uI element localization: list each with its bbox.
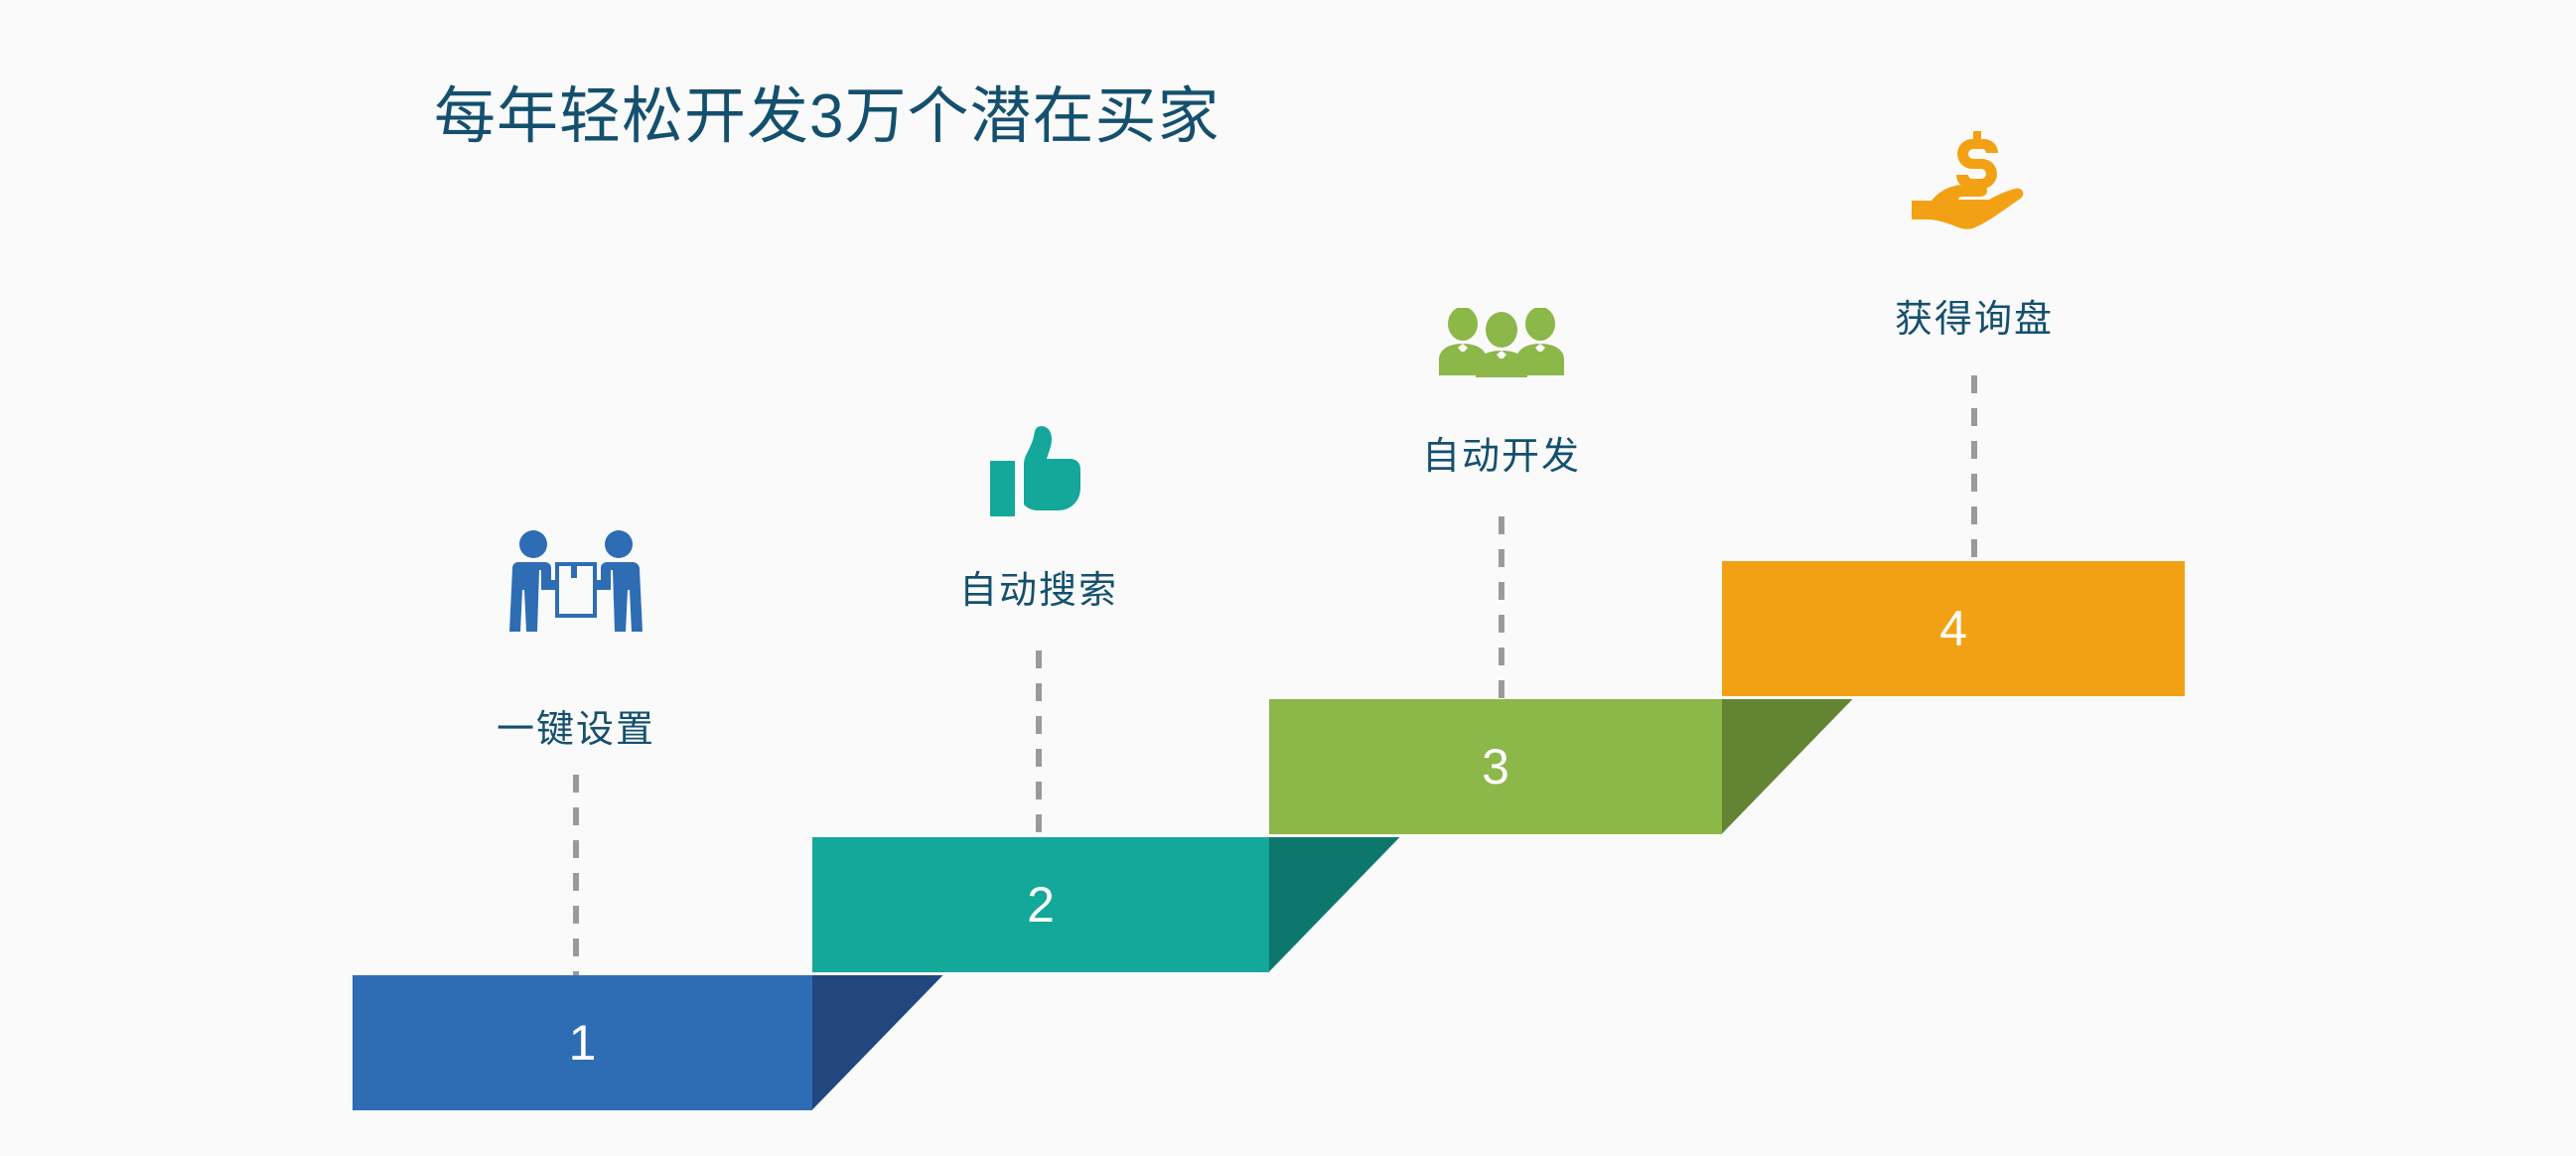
two-people-carrying-box-icon	[501, 528, 650, 638]
step-2-riser	[1269, 837, 1400, 972]
step-3-tread	[1269, 699, 1722, 834]
step-3-label: 自动开发	[1422, 425, 1581, 480]
step-4-icon-wrap	[1910, 129, 2039, 233]
step-2-block[interactable]: 2	[812, 837, 1269, 972]
step-2-connector	[1036, 650, 1042, 837]
step-4-tread	[1722, 561, 2185, 696]
step-1-label: 一键设置	[497, 698, 655, 753]
step-2-label: 自动搜索	[959, 559, 1118, 614]
step-3-riser	[1722, 699, 1853, 834]
hand-holding-dollar-icon	[1910, 129, 2039, 233]
step-1-icon-wrap	[501, 528, 650, 638]
step-4-connector	[1971, 375, 1977, 561]
step-1-riser	[812, 975, 943, 1110]
three-people-group-icon	[1438, 308, 1565, 377]
thumbs-up-icon	[984, 425, 1093, 524]
step-1-connector	[573, 775, 579, 975]
step-3-block[interactable]: 3	[1269, 699, 1722, 834]
step-2-tread	[812, 837, 1269, 972]
step-1-tread	[353, 975, 812, 1110]
step-2-icon-wrap	[984, 425, 1093, 524]
page-title: 每年轻松开发3万个潜在买家	[434, 81, 1219, 152]
step-4-block[interactable]: 4	[1722, 561, 2185, 696]
step-4-label: 获得询盘	[1895, 288, 2054, 343]
infographic-canvas: 每年轻松开发3万个潜在买家 一键设置 1	[0, 0, 2576, 1156]
step-1-block[interactable]: 1	[353, 975, 812, 1110]
step-3-connector	[1499, 516, 1504, 699]
step-3-icon-wrap	[1438, 308, 1565, 377]
